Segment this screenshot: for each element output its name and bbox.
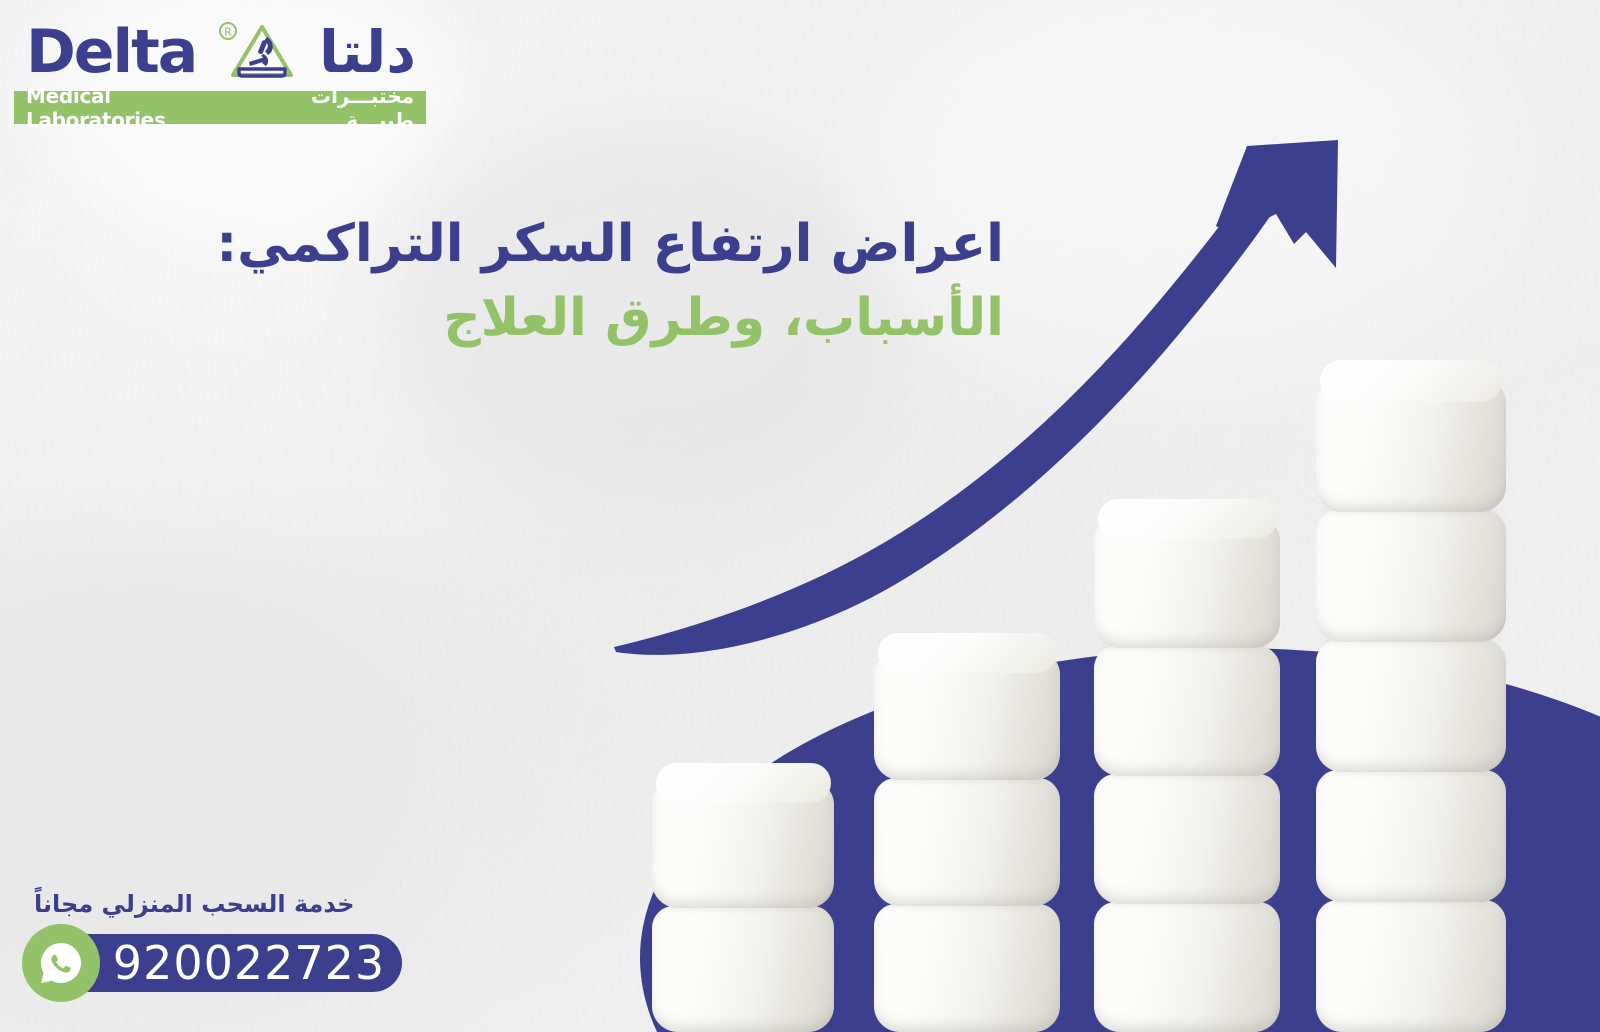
contact-tagline: خدمة السحب المنزلي مجاناً [16,890,416,918]
sugar-cube-icon [652,782,834,908]
sugar-cube-icon [1316,900,1506,1032]
sugar-cube-icon [1316,640,1506,772]
headline-block: اعراض ارتفاع السكر التراكمي: الأسباب، وط… [564,214,1004,351]
cube-stack-1 [652,780,834,1032]
logo-wordmark-row: Delta R دلتا [14,16,426,88]
logo-tagline-bar: Medical Laboratories مختبـــرات طبيـــة [14,91,426,124]
whatsapp-icon[interactable] [22,924,100,1002]
logo-name-en: Delta [26,22,196,82]
sugar-cube-icon [1316,510,1506,642]
contact-cta[interactable]: 920022723 [16,924,416,998]
sugar-cube-icon [874,904,1060,1032]
microscope-triangle-icon: R [219,21,297,83]
sugar-cube-icon [1094,646,1280,776]
poster-canvas: Delta R دلتا [0,0,1600,1032]
phone-pill[interactable]: 920022723 [52,934,402,992]
brand-logo[interactable]: Delta R دلتا [14,16,426,124]
contact-block: خدمة السحب المنزلي مجاناً 920022723 [16,890,416,998]
svg-text:R: R [224,26,232,39]
cube-stack-3 [1094,524,1280,1032]
sugar-cube-icon [1094,902,1280,1032]
logo-tagline-ar: مختبـــرات طبيـــة [245,84,414,132]
sugar-cube-icon [874,778,1060,906]
cube-stack-2 [874,654,1060,1032]
sugar-cube-icon [652,906,834,1032]
sugar-cube-icon [874,652,1060,780]
phone-number[interactable]: 920022723 [113,940,385,986]
logo-tagline-en: Medical Laboratories [26,84,245,132]
sugar-cube-icon [1316,380,1506,512]
sugar-cube-icon [1094,774,1280,904]
headline-primary: اعراض ارتفاع السكر التراكمي: [564,214,1004,275]
sugar-cube-bar-chart [0,0,1600,1032]
headline-secondary: الأسباب، وطرق العلاج [564,287,1004,350]
sugar-cube-icon [1094,518,1280,648]
cube-stack-4 [1316,392,1506,1032]
logo-name-ar: دلتا [319,23,416,81]
sugar-cube-icon [1316,770,1506,902]
